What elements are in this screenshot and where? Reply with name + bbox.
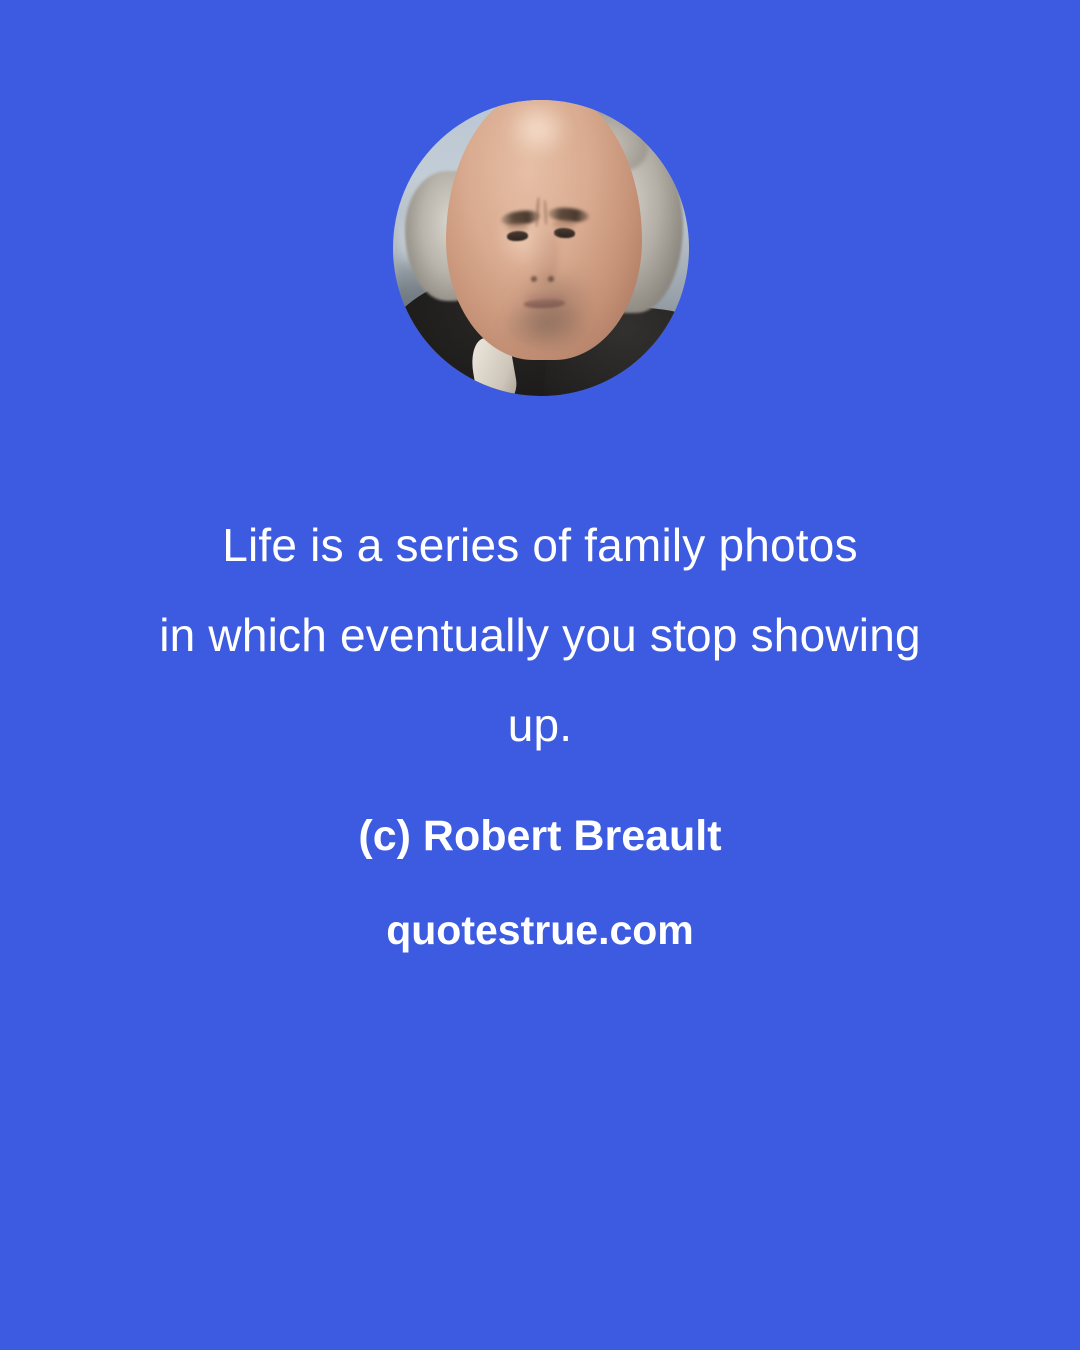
eye-right [553, 228, 575, 239]
quote-line: in which eventually you stop showing [60, 590, 1020, 680]
portrait-photo [393, 100, 689, 396]
quote-card: Life is a series of family photos in whi… [0, 0, 1080, 1350]
author-portrait [393, 100, 689, 396]
quote-line: Life is a series of family photos [60, 500, 1020, 590]
quote-line: up. [60, 680, 1020, 770]
source-website: quotestrue.com [0, 900, 1080, 960]
brow-furrow-line-2 [543, 200, 547, 225]
face-shape [446, 100, 641, 360]
forehead-highlight [505, 100, 571, 159]
quote-text: Life is a series of family photos in whi… [0, 500, 1080, 770]
author-attribution: (c) Robert Breault [0, 806, 1080, 866]
jaw-shadow [513, 268, 595, 339]
